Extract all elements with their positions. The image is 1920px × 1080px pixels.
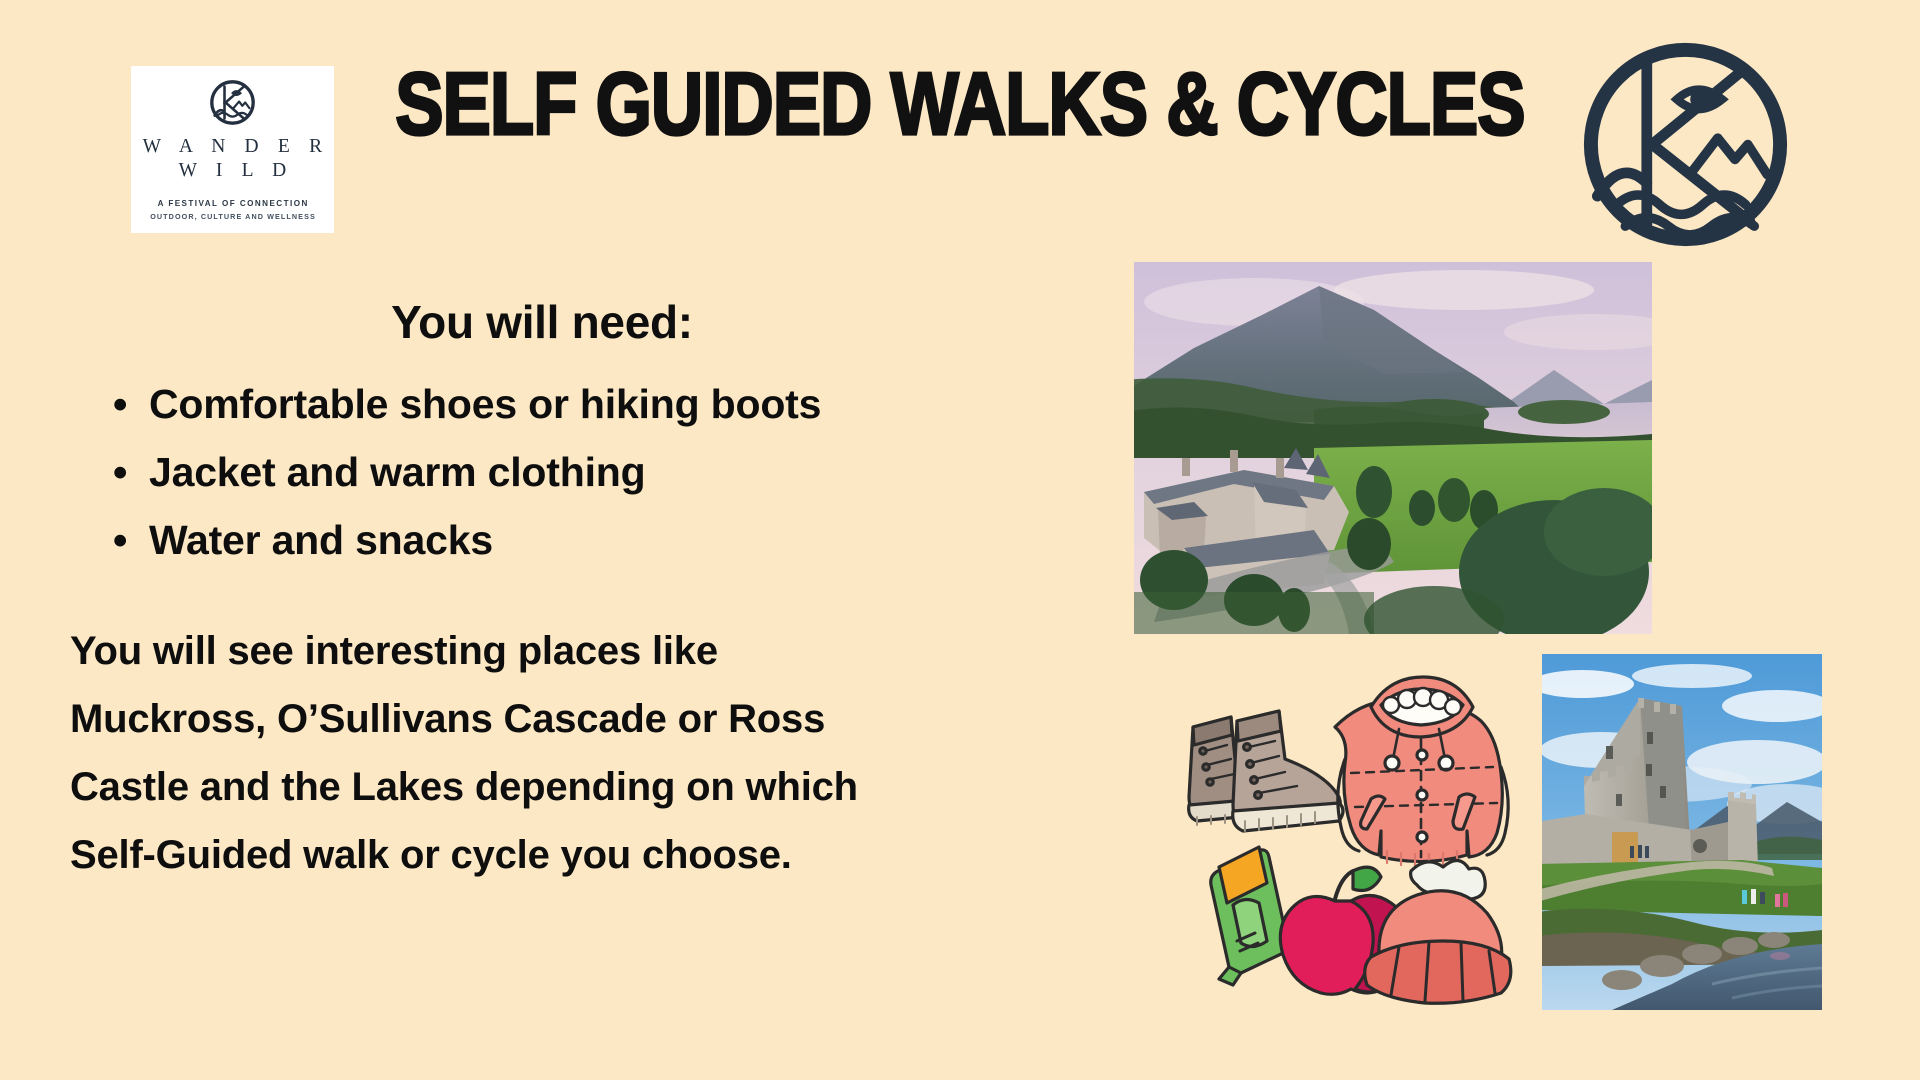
bullet-glyph: • <box>113 506 127 574</box>
logo-wordmark-line2: W I L D <box>172 159 294 183</box>
paragraph-line: Muckross, O’Sullivans Cascade or Ross <box>70 685 1080 753</box>
gear-art <box>1175 655 1520 1005</box>
beanie-hat-icon <box>1365 860 1511 1003</box>
list-item: • Water and snacks <box>105 506 1065 574</box>
snack-bar-icon <box>1211 847 1288 985</box>
puffer-jacket-icon <box>1335 677 1508 866</box>
logo-tagline-secondary: OUTDOOR, CULTURE AND WELLNESS <box>149 212 316 221</box>
paragraph-line: Castle and the Lakes depending on which <box>70 753 1080 821</box>
body-paragraph: You will see interesting places like Muc… <box>70 617 1080 889</box>
muckross-house-aerial-photo <box>1134 262 1652 634</box>
ross-castle-photo <box>1542 654 1822 1010</box>
list-item-label: Comfortable shoes or hiking boots <box>149 381 821 427</box>
muckross-photo-art <box>1134 262 1652 634</box>
logo-tagline-primary: A FESTIVAL OF CONNECTION <box>156 199 309 208</box>
hiking-boots-icon <box>1189 711 1343 831</box>
list-item: • Jacket and warm clothing <box>105 438 1065 506</box>
needs-heading: You will need: <box>62 295 1022 349</box>
paragraph-line: Self-Guided walk or cycle you choose. <box>70 821 1080 889</box>
killarney-k-circle-icon <box>1578 37 1793 252</box>
list-item: • Comfortable shoes or hiking boots <box>105 370 1065 438</box>
list-item-label: Water and snacks <box>149 517 493 563</box>
slide-canvas: W A N D E R W I L D A FESTIVAL OF CONNEC… <box>0 0 1920 1080</box>
hiking-gear-illustration <box>1175 655 1520 1005</box>
paragraph-line: You will see interesting places like <box>70 617 1080 685</box>
needs-list: • Comfortable shoes or hiking boots • Ja… <box>105 370 1065 574</box>
bullet-glyph: • <box>113 438 127 506</box>
slide-title: SELF GUIDED WALKS & CYCLES <box>173 60 1747 148</box>
list-item-label: Jacket and warm clothing <box>149 449 645 495</box>
ross-castle-photo-art <box>1542 654 1822 1010</box>
bullet-glyph: • <box>113 370 127 438</box>
